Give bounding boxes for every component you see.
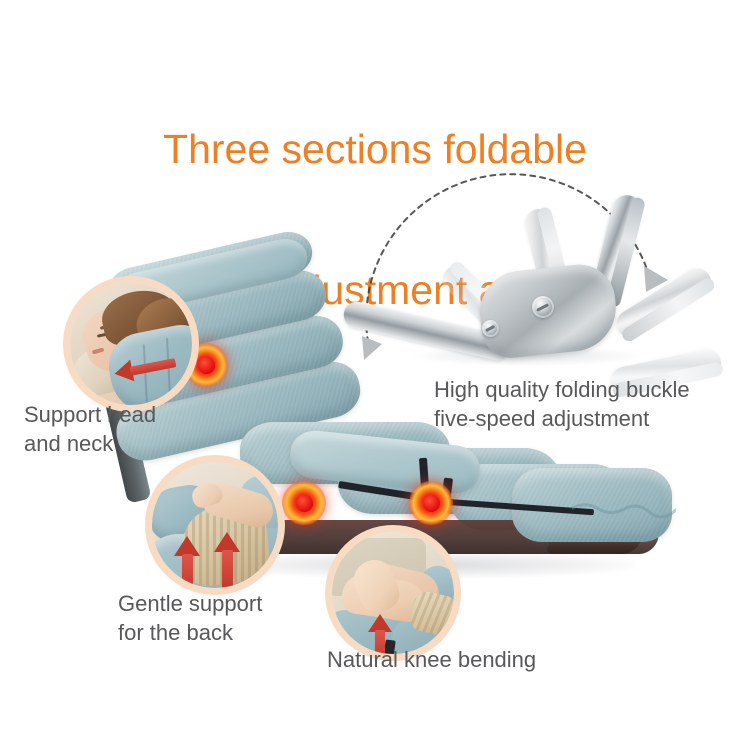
callout-bubble-back <box>152 462 278 588</box>
caption-knee: Natural knee bending <box>327 645 536 674</box>
headline-line-1: Three sections foldable <box>0 126 750 173</box>
caption-back: Gentle support for the back <box>118 589 262 647</box>
callout-bubble-head-neck <box>70 283 192 405</box>
arrow-support-back-1-icon <box>174 536 200 588</box>
infographic-canvas: Three sections foldable Free adjustment … <box>0 0 750 750</box>
callout-bubble-knee <box>332 532 454 654</box>
caption-buckle: High quality folding buckle five-speed a… <box>434 375 690 433</box>
hotspot-back-icon <box>282 481 326 525</box>
arrow-support-back-2-icon <box>214 532 240 588</box>
caption-head-neck: Support head and neck <box>24 400 156 458</box>
hotspot-knee-icon <box>409 481 453 525</box>
